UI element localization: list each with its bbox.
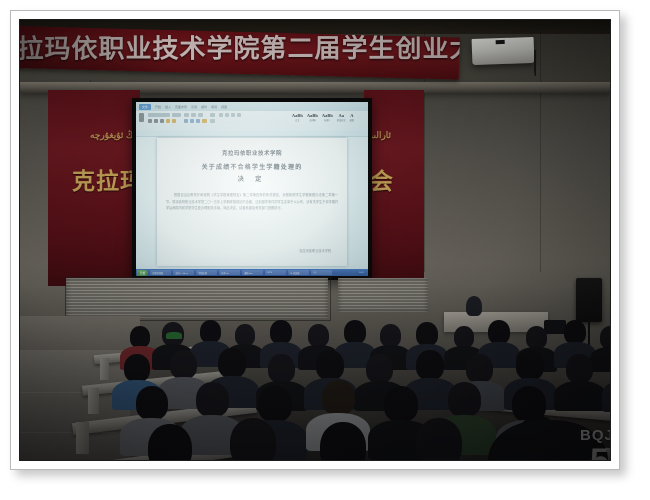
style-chip-no-spacing[interactable]: AaBb 无间隔 <box>307 114 318 122</box>
highlight-icon[interactable] <box>166 119 170 123</box>
audience-head <box>258 386 292 422</box>
multilevel-list-icon[interactable] <box>198 113 203 117</box>
green-cap-icon <box>166 332 182 339</box>
sort-icon[interactable] <box>231 113 235 117</box>
projection-screen-surface: 文件 开始 插入 页面布局 引用 邮件 审阅 视图 <box>136 102 368 276</box>
ribbon-tab-mailings[interactable]: 邮件 <box>201 105 207 109</box>
document-subtitle: 决 定 <box>157 174 347 183</box>
audience-head <box>516 350 544 380</box>
ac-power-cable <box>534 50 536 76</box>
jacket-print-top-text: BQJ <box>580 428 610 443</box>
style-sample-no-spacing: AaBb <box>307 114 318 119</box>
photo-inner-border: 拉玛依职业技术学院第二届学生创业大赛 ىڭ ئۇيغۇرچە 克拉玛 ئارال… <box>19 19 611 461</box>
audience-head <box>526 326 547 349</box>
change-styles-label: 更改样式 <box>337 120 346 122</box>
ribbon-tab-references[interactable]: 引用 <box>191 105 197 109</box>
backdrop-uyghur-left: ىڭ ئۇيغۇرچە <box>90 130 136 141</box>
audience-head <box>384 386 418 422</box>
style-name-no-spacing: 无间隔 <box>307 120 318 122</box>
document-signature: 克拉玛依职业技术学院 <box>299 248 331 253</box>
audience-head <box>566 354 593 383</box>
document-institution-heading: 克拉玛依职业技术学院 <box>157 149 347 157</box>
underline-icon[interactable] <box>160 119 164 123</box>
tech-operator-person <box>466 296 482 316</box>
word-application-window: 文件 开始 插入 页面布局 引用 邮件 审阅 视图 <box>136 102 368 276</box>
italic-icon[interactable] <box>154 119 158 123</box>
ribbon-icon-cluster <box>139 113 308 129</box>
change-styles-button[interactable]: Aa 更改样式 <box>337 114 346 122</box>
bold-icon[interactable] <box>148 119 152 123</box>
taskbar-item-doc2[interactable]: 学籍处理 <box>196 270 217 275</box>
taskbar-item-wps[interactable]: WPS <box>265 270 286 275</box>
roller-shutter-frame <box>65 277 331 321</box>
audience-head <box>454 326 474 348</box>
audience-head-foreground <box>416 418 462 460</box>
audience-head <box>270 320 292 344</box>
pa-speaker-icon <box>576 278 602 322</box>
style-sample-heading1: AaBb <box>322 114 333 119</box>
wall-seam-vertical-b <box>540 32 541 272</box>
projection-screen: 文件 开始 插入 页面布局 引用 邮件 审阅 视图 <box>132 98 372 280</box>
ribbon-tab-review[interactable]: 审阅 <box>211 105 217 109</box>
show-marks-icon[interactable] <box>237 113 241 117</box>
indent-increase-icon[interactable] <box>225 113 229 117</box>
word-style-gallery[interactable]: AaBb 正文 AaBb 无间隔 AaBb 标题 1 <box>292 114 354 122</box>
ribbon-tab-insert[interactable]: 插入 <box>165 105 171 109</box>
indent-decrease-icon[interactable] <box>219 113 223 117</box>
audience-head <box>200 320 221 343</box>
lecture-hall-scene: 拉玛依职业技术学院第二届学生创业大赛 ىڭ ئۇيغۇرچە 克拉玛 ئارال… <box>20 20 610 460</box>
shading-icon[interactable] <box>202 119 207 123</box>
start-button[interactable]: 开始 <box>137 270 148 276</box>
audience-head <box>416 322 438 346</box>
audience-head <box>130 326 150 348</box>
bullet-list-icon[interactable] <box>184 113 189 117</box>
audience-head <box>344 320 366 344</box>
stage-backdrop-right: ئارالىق 大会 <box>364 90 424 286</box>
audience-head <box>218 348 246 378</box>
audience-head <box>564 320 586 344</box>
taskbar-item-notice[interactable]: 通知.doc <box>242 270 263 275</box>
audience-head <box>235 324 255 346</box>
ribbon-tab-view[interactable]: 视图 <box>221 105 227 109</box>
floor-joint-line-2 <box>20 432 116 433</box>
audience-head-foreground <box>148 424 192 460</box>
audience-head <box>322 380 355 415</box>
backdrop-chinese-left: 克拉玛 <box>72 162 140 196</box>
font-color-icon[interactable] <box>172 119 176 123</box>
editing-label: 编辑 <box>350 120 354 122</box>
audience-head <box>466 354 493 383</box>
photo-frame: 拉玛依职业技术学院第二届学生创业大赛 ىڭ ئۇيغۇرچە 克拉玛 ئارال… <box>10 10 620 470</box>
ribbon-tab-file[interactable]: 文件 <box>139 104 151 110</box>
style-chip-heading1[interactable]: AaBb 标题 1 <box>322 114 333 122</box>
editing-button[interactable]: A 编辑 <box>350 114 354 122</box>
audience-head-foreground <box>230 418 276 460</box>
taskbar-item-qq[interactable]: QQ <box>311 270 332 275</box>
borders-icon[interactable] <box>210 119 215 123</box>
audience-head <box>600 326 610 349</box>
line-spacing-icon[interactable] <box>210 113 215 117</box>
taskbar-item-word[interactable]: 文档1 - Micro <box>173 270 194 275</box>
style-name-heading1: 标题 1 <box>322 120 333 122</box>
seat-armrest-3 <box>76 422 89 454</box>
word-ribbon-body[interactable]: AaBb 正文 AaBb 无间隔 AaBb 标题 1 <box>136 111 368 132</box>
audience-head <box>124 354 150 382</box>
word-document-page[interactable]: 克拉玛依职业技术学院 关于成绩不合格学生学籍处理的 决 定 根据自治区教育厅和我… <box>157 138 347 266</box>
taskbar-item-browser[interactable]: IE 浏览器 <box>288 270 309 275</box>
audience-head <box>316 350 344 380</box>
audience-head <box>448 382 481 417</box>
audience-head <box>366 354 393 383</box>
audience-head <box>308 324 329 347</box>
video-camera-icon <box>544 320 566 334</box>
audience-head <box>488 320 510 344</box>
editing-icon: A <box>350 114 354 119</box>
taskbar-item-explorer[interactable]: 资源管理器 <box>150 270 171 275</box>
font-size-box[interactable] <box>172 113 181 117</box>
audience-head <box>380 324 401 347</box>
audience-head <box>268 354 295 383</box>
windows-taskbar[interactable]: 开始 资源管理器 文档1 - Micro 学籍处理 名单.xls 通知.doc … <box>136 269 368 276</box>
ac-vent-slot <box>495 39 505 43</box>
ribbon-tab-page-layout[interactable]: 页面布局 <box>175 105 187 109</box>
ribbon-tab-home[interactable]: 开始 <box>155 105 161 109</box>
number-list-icon[interactable] <box>191 113 196 117</box>
align-center-icon[interactable] <box>190 119 194 123</box>
audience-shoulders <box>554 381 606 411</box>
taskbar-clock[interactable]: 15:42 <box>356 270 367 276</box>
change-styles-icon: Aa <box>337 114 346 119</box>
roller-shutter-door-right <box>338 278 428 312</box>
document-body-text: 根据自治区教育厅和我院《学生学籍管理规定》第二章第四条的有关规定，对照我院学生学… <box>166 192 338 212</box>
font-name-box[interactable] <box>148 113 170 117</box>
seat-armrest-1 <box>100 358 109 380</box>
audience-head <box>136 386 168 420</box>
audience-head <box>416 350 444 380</box>
align-left-icon[interactable] <box>184 119 188 123</box>
stage-backdrop-left: ىڭ ئۇيغۇرچە 克拉玛 <box>48 90 140 286</box>
jacket-print-big-text: 5 <box>590 444 610 460</box>
style-chip-normal[interactable]: AaBb 正文 <box>292 114 303 122</box>
audience-head <box>170 350 197 379</box>
document-title: 关于成绩不合格学生学籍处理的 <box>157 162 347 171</box>
taskbar-item-excel[interactable]: 名单.xls <box>219 270 240 275</box>
word-horizontal-ruler[interactable] <box>136 131 368 137</box>
paste-icon[interactable] <box>139 113 144 122</box>
wall-air-conditioner-icon <box>472 37 535 65</box>
audience-head <box>196 382 229 417</box>
audience-shoulders <box>590 347 610 372</box>
seat-armrest-2 <box>88 388 99 414</box>
audience-head-foreground <box>320 422 366 460</box>
style-sample-normal: AaBb <box>292 114 303 119</box>
align-right-icon[interactable] <box>196 119 200 123</box>
style-name-normal: 正文 <box>292 120 303 122</box>
